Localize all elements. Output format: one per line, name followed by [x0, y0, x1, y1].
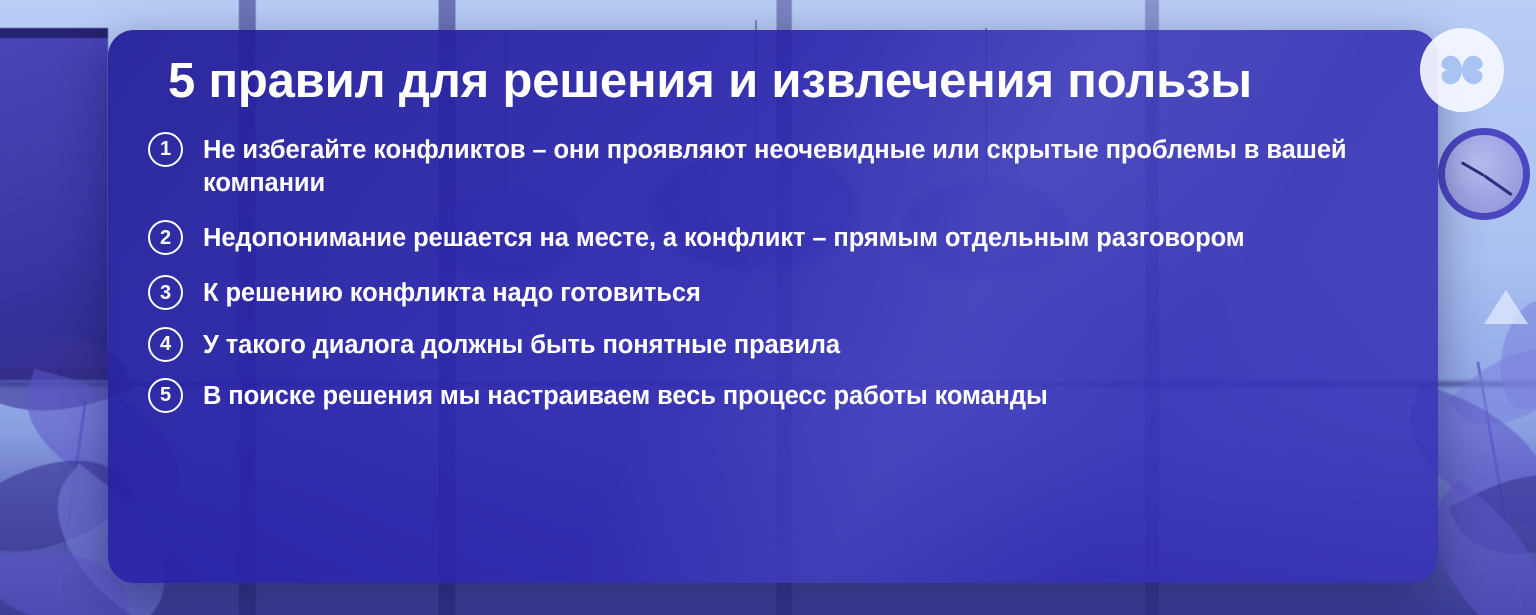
rule-number-badge: 2: [148, 220, 183, 255]
rule-text: Не избегайте конфликтов – они проявляют …: [203, 134, 1383, 200]
page-title: 5 правил для решения и извлечения пользы: [168, 56, 1398, 108]
rules-list: 1 Не избегайте конфликтов – они проявляю…: [142, 134, 1398, 413]
rule-number-badge: 4: [148, 327, 183, 362]
rule-number-badge: 5: [148, 378, 183, 413]
rule-text: Недопонимание решается на месте, а конфл…: [203, 222, 1245, 255]
slide-canvas: 5 правил для решения и извлечения пользы…: [0, 0, 1536, 615]
rule-text: В поиске решения мы настраиваем весь про…: [203, 380, 1048, 413]
list-item: 1 Не избегайте конфликтов – они проявляю…: [148, 134, 1398, 200]
list-item: 2 Недопонимание решается на месте, а кон…: [148, 222, 1398, 255]
clock-hour-hand: [1461, 161, 1485, 177]
list-item: 4 У такого диалога должны быть понятные …: [148, 329, 1398, 362]
background-monitor: [0, 28, 108, 380]
wall-clock-illustration: [1438, 128, 1530, 220]
triangle-decoration: [1484, 290, 1528, 324]
logo-badge: [1420, 28, 1504, 112]
rule-text: К решению конфликта надо готовиться: [203, 277, 701, 310]
list-item: 5 В поиске решения мы настраиваем весь п…: [148, 380, 1398, 413]
rule-number-badge: 3: [148, 275, 183, 310]
clock-minute-hand: [1483, 174, 1513, 196]
content-card: 5 правил для решения и извлечения пользы…: [108, 30, 1438, 583]
four-petal-flower-icon: [1437, 45, 1487, 95]
list-item: 3 К решению конфликта надо готовиться: [148, 277, 1398, 310]
rule-text: У такого диалога должны быть понятные пр…: [203, 329, 840, 362]
rule-number-badge: 1: [148, 132, 183, 167]
